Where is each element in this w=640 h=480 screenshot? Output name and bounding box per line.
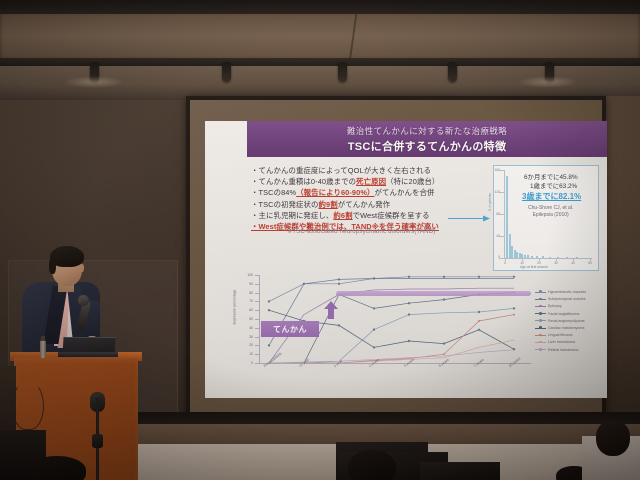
slide-title: TSCに合併するてんかんの特徴 xyxy=(348,138,507,154)
spotlight-glow xyxy=(518,76,578,88)
chart-highlight-band xyxy=(336,291,531,296)
slide-title-bar: 難治性てんかんに対する新たな治療戦略 TSCに合併するてんかんの特徴 xyxy=(247,121,607,157)
presentation-slide: 難治性てんかんに対する新たな治療戦略 TSCに合併するてんかんの特徴 ・てんかん… xyxy=(205,121,607,398)
slide-footnote: ※TSC-associated neuropsychiatric disorde… xyxy=(287,228,435,235)
ceiling-spotlight-icon xyxy=(338,62,347,82)
legend-item: Retinal hamartoma xyxy=(535,347,605,353)
floor-microphone-joint xyxy=(92,434,103,448)
legend-swatch xyxy=(535,313,546,314)
legend-item: Subependymal nodules xyxy=(535,296,605,302)
legend-swatch xyxy=(535,349,546,350)
ceiling-spotlight-icon xyxy=(222,62,231,82)
purple-arrow-icon xyxy=(323,301,339,319)
inset-stat-1year: 1歳までに63.2% xyxy=(530,181,577,190)
legend-item: Ungual fibroma xyxy=(535,332,605,338)
blue-arrow-icon xyxy=(448,214,490,223)
legend-swatch xyxy=(535,299,546,300)
bullet-item: ・てんかんの重症度によってQOLが大きく左右される xyxy=(251,165,496,176)
audience-head xyxy=(28,456,86,480)
inset-citation: Chu-Shore CJ, et al. Epilepsia (2010) xyxy=(528,205,573,219)
ceiling-beam xyxy=(0,14,640,62)
epilepsy-highlight-tag: てんかん xyxy=(261,321,319,337)
legend-item: Hypomelanotic macules xyxy=(535,289,605,295)
audience-head xyxy=(596,420,630,456)
inset-y-axis xyxy=(504,170,505,258)
speaker-ear xyxy=(79,264,84,272)
legend-item: Epilepsy xyxy=(535,303,605,309)
chart-legend: Hypomelanotic macules Subependymal nodul… xyxy=(535,289,605,354)
bullet-item: ・TSCの初発症状の約9割がてんかん発作 xyxy=(251,199,496,210)
laptop-base xyxy=(58,352,118,357)
cable-loop xyxy=(12,382,44,430)
legend-swatch xyxy=(535,342,546,343)
inset-stat-3years: 3歳までに82.1% xyxy=(522,191,581,202)
speaker-hair-side xyxy=(49,258,56,274)
legend-swatch xyxy=(535,328,546,329)
chart-series-plot xyxy=(259,275,531,363)
audience-head xyxy=(348,450,396,480)
spotlight-glow xyxy=(64,76,124,88)
inset-y-axis-title: N of patients xyxy=(488,193,492,211)
presentation-photo: 難治性てんかんに対する新たな治療戦略 TSCに合併するてんかんの特徴 ・てんかん… xyxy=(0,0,640,480)
legend-item: Cardiac rhabdomyoma xyxy=(535,325,605,331)
wall-right xyxy=(604,96,640,414)
legend-swatch xyxy=(535,292,546,293)
slide-subtitle: 難治性てんかんに対する新たな治療戦略 xyxy=(347,125,507,137)
ceiling-spotlight-icon xyxy=(448,62,457,82)
bullet-item: ・てんかん重積は0-40歳までの死亡原因（特に20歳台） xyxy=(251,176,496,187)
handheld-microphone-head xyxy=(78,295,89,306)
chart-y-axis-title: Expression percentage xyxy=(232,290,236,325)
legend-item: Liver hamartoma xyxy=(535,339,605,345)
inset-histogram: N of patients 160 120 80 40 0 0 10 20 30… xyxy=(493,165,599,271)
legend-swatch xyxy=(535,335,546,336)
legend-swatch xyxy=(535,320,546,321)
inset-stat-6months: 6か月までに45.8% xyxy=(524,172,578,181)
bullet-item: ・TSCの84%（報告により60-90%）がてんかんを合併 xyxy=(251,187,496,198)
chair xyxy=(420,462,500,480)
legend-item: Facial angiofibroma xyxy=(535,311,605,317)
inset-x-axis-title: Age at first seizure xyxy=(520,265,548,269)
legend-item: Renal angiomyolipoma xyxy=(535,318,605,324)
legend-swatch xyxy=(535,306,546,307)
inset-x-axis xyxy=(504,258,592,259)
water-bottle-cap xyxy=(41,336,45,341)
water-bottle xyxy=(40,340,46,358)
main-line-chart: Expression percentage 100 90 80 70 60 50… xyxy=(231,273,539,391)
